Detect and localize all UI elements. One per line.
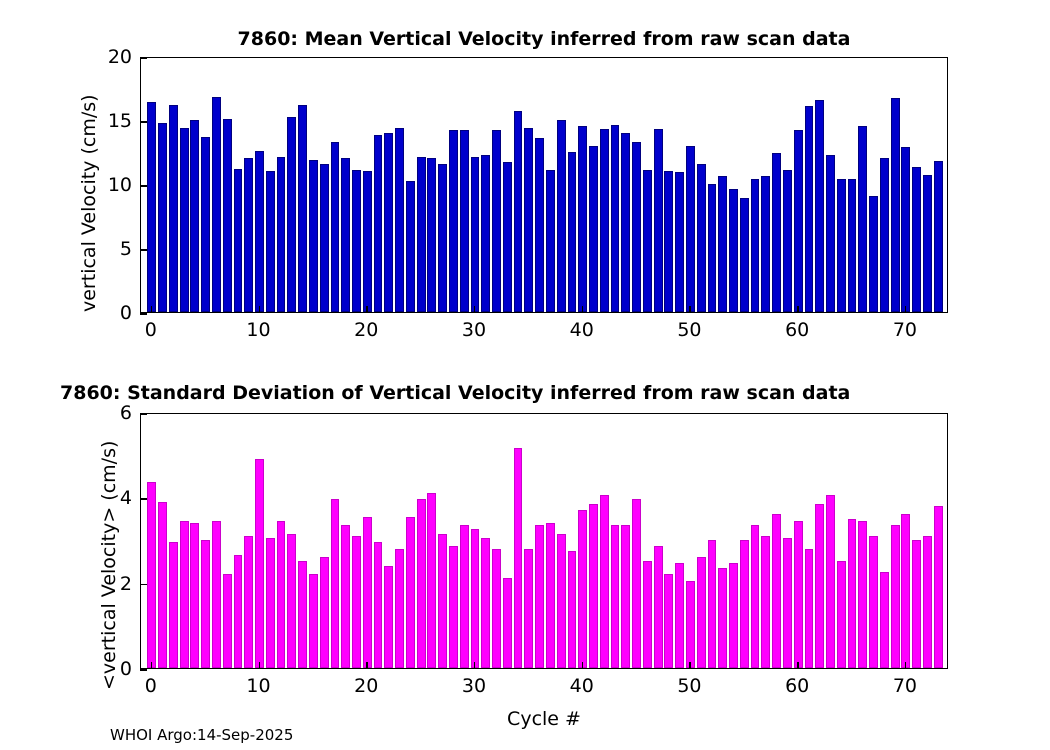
x-tick-label: 0 xyxy=(145,319,157,341)
bar xyxy=(234,169,243,312)
bar xyxy=(664,574,673,668)
bar xyxy=(697,164,706,312)
bar xyxy=(158,123,167,312)
plot-area-mean xyxy=(140,57,948,313)
x-tick-label: 20 xyxy=(354,675,378,697)
bar xyxy=(180,128,189,312)
y-tick-label: 2 xyxy=(88,573,132,595)
y-tick-label: 6 xyxy=(88,402,132,424)
bar xyxy=(611,525,620,668)
bar xyxy=(772,514,781,668)
bar xyxy=(761,176,770,312)
bar xyxy=(320,557,329,668)
bar xyxy=(912,167,921,312)
x-tick-label: 60 xyxy=(785,319,809,341)
bar xyxy=(632,499,641,668)
bar xyxy=(341,525,350,668)
y-tick xyxy=(140,498,147,500)
x-tick xyxy=(366,662,368,669)
bar xyxy=(449,130,458,312)
bar xyxy=(621,133,630,312)
bar xyxy=(557,120,566,312)
bar xyxy=(352,170,361,312)
y-tick xyxy=(140,57,147,59)
x-tick-label: 10 xyxy=(246,675,270,697)
bar xyxy=(848,179,857,312)
bar xyxy=(600,495,609,668)
bar xyxy=(654,129,663,312)
bar xyxy=(535,138,544,312)
bar xyxy=(729,563,738,668)
bar xyxy=(837,179,846,312)
bar xyxy=(427,493,436,668)
bar xyxy=(600,129,609,312)
y-tick-label: 4 xyxy=(88,487,132,509)
x-tick-label: 70 xyxy=(893,675,917,697)
bar xyxy=(503,578,512,668)
bar xyxy=(891,98,900,312)
bar xyxy=(869,536,878,668)
bar xyxy=(514,448,523,668)
bar xyxy=(901,514,910,668)
x-tick-label: 60 xyxy=(785,675,809,697)
y-tick-label: 15 xyxy=(88,110,132,132)
y-axis-label-std: <vertical Velocity> (cm/s) xyxy=(98,441,120,690)
bar xyxy=(395,549,404,668)
bar xyxy=(654,546,663,668)
x-tick-label: 30 xyxy=(462,319,486,341)
bar-series-std xyxy=(141,414,947,668)
bar xyxy=(244,158,253,312)
y-tick-label: 10 xyxy=(88,174,132,196)
bar xyxy=(492,549,501,668)
x-tick xyxy=(151,306,153,313)
x-tick xyxy=(689,306,691,313)
bar xyxy=(740,198,749,312)
bar xyxy=(643,170,652,312)
bar xyxy=(891,525,900,668)
bar xyxy=(621,525,630,668)
bar xyxy=(363,171,372,312)
x-tick-label: 50 xyxy=(677,675,701,697)
bar xyxy=(589,504,598,668)
y-tick-label: 20 xyxy=(88,46,132,68)
x-tick-label: 10 xyxy=(246,319,270,341)
bar xyxy=(783,538,792,668)
footnote-credit: WHOI Argo:14-Sep-2025 xyxy=(110,726,293,744)
bar xyxy=(309,574,318,668)
bar xyxy=(331,142,340,312)
bar xyxy=(492,130,501,312)
bar xyxy=(923,175,932,312)
bar xyxy=(395,128,404,312)
bar xyxy=(611,125,620,312)
bar xyxy=(438,534,447,668)
bar xyxy=(460,130,469,312)
bar xyxy=(546,170,555,312)
x-tick xyxy=(905,306,907,313)
bar xyxy=(352,536,361,668)
bar xyxy=(535,525,544,668)
bar xyxy=(837,561,846,668)
bar xyxy=(212,97,221,312)
bar xyxy=(417,157,426,312)
bar xyxy=(331,499,340,668)
bar xyxy=(190,523,199,668)
bar xyxy=(794,521,803,668)
bar xyxy=(406,181,415,312)
plot-area-std xyxy=(140,413,948,669)
bar xyxy=(578,510,587,668)
bar xyxy=(934,506,943,668)
bar xyxy=(912,540,921,668)
bar xyxy=(201,540,210,668)
bar xyxy=(761,536,770,668)
bar xyxy=(568,152,577,312)
bar xyxy=(309,160,318,312)
bar xyxy=(223,119,232,312)
bar xyxy=(805,106,814,312)
bar xyxy=(277,157,286,312)
y-tick xyxy=(140,249,147,251)
bar xyxy=(524,128,533,312)
bar xyxy=(471,529,480,668)
bar xyxy=(826,155,835,312)
bar xyxy=(384,133,393,312)
bar xyxy=(266,171,275,312)
x-tick-label: 30 xyxy=(462,675,486,697)
bar xyxy=(298,105,307,312)
bar xyxy=(158,502,167,668)
x-tick xyxy=(474,662,476,669)
bar xyxy=(438,164,447,312)
bar xyxy=(147,482,156,668)
bar-series-mean xyxy=(141,58,947,312)
bar xyxy=(201,137,210,312)
bar xyxy=(287,117,296,312)
y-tick xyxy=(140,313,147,315)
bar xyxy=(503,162,512,312)
bar xyxy=(255,459,264,668)
bar xyxy=(869,196,878,312)
figure-canvas: 7860: Mean Vertical Velocity inferred fr… xyxy=(0,0,1050,750)
bar xyxy=(815,100,824,312)
bar xyxy=(266,538,275,668)
bar xyxy=(751,179,760,312)
bar xyxy=(524,549,533,668)
bar xyxy=(417,499,426,668)
y-tick-label: 0 xyxy=(88,658,132,680)
y-tick xyxy=(140,584,147,586)
bar xyxy=(643,561,652,668)
x-axis-label-std: Cycle # xyxy=(507,708,581,730)
bar xyxy=(858,521,867,668)
bar xyxy=(805,549,814,668)
bar xyxy=(858,126,867,312)
bar xyxy=(718,568,727,668)
bar xyxy=(471,157,480,312)
bar xyxy=(783,170,792,312)
bar xyxy=(190,120,199,312)
bar xyxy=(880,572,889,668)
y-tick xyxy=(140,413,147,415)
bar xyxy=(557,534,566,668)
bar xyxy=(374,542,383,668)
bar xyxy=(751,525,760,668)
x-tick xyxy=(689,662,691,669)
bar xyxy=(514,111,523,312)
bar xyxy=(341,158,350,312)
bar xyxy=(546,523,555,668)
bar xyxy=(729,189,738,312)
bar xyxy=(460,525,469,668)
bar xyxy=(675,172,684,312)
bar xyxy=(708,184,717,312)
bar xyxy=(826,495,835,668)
bar xyxy=(255,151,264,312)
bar xyxy=(675,563,684,668)
panel-mean-vertical-velocity: 7860: Mean Vertical Velocity inferred fr… xyxy=(0,0,1050,360)
bar xyxy=(718,176,727,312)
bar xyxy=(708,540,717,668)
y-tick xyxy=(140,121,147,123)
chart-title-mean: 7860: Mean Vertical Velocity inferred fr… xyxy=(140,28,948,50)
bar xyxy=(578,126,587,312)
bar xyxy=(686,146,695,312)
bar xyxy=(901,147,910,312)
bar xyxy=(277,521,286,668)
bar xyxy=(180,521,189,668)
bar xyxy=(815,504,824,668)
bar xyxy=(169,105,178,312)
bar xyxy=(664,171,673,312)
y-tick xyxy=(140,669,147,671)
x-tick-label: 50 xyxy=(677,319,701,341)
x-tick xyxy=(582,662,584,669)
panel-std-vertical-velocity: 7860: Standard Deviation of Vertical Vel… xyxy=(0,360,1050,750)
bar xyxy=(589,146,598,312)
x-tick-label: 70 xyxy=(893,319,917,341)
bar xyxy=(449,546,458,668)
bar xyxy=(234,555,243,668)
bar xyxy=(427,158,436,312)
bar xyxy=(686,581,695,668)
bar xyxy=(406,517,415,668)
x-tick-label: 40 xyxy=(570,675,594,697)
bar xyxy=(363,517,372,668)
bar xyxy=(632,142,641,312)
bar xyxy=(320,164,329,312)
x-tick-label: 20 xyxy=(354,319,378,341)
bar xyxy=(374,135,383,312)
bar xyxy=(384,566,393,668)
x-tick xyxy=(797,306,799,313)
y-tick-label: 0 xyxy=(88,302,132,324)
x-tick xyxy=(582,306,584,313)
bar xyxy=(481,538,490,668)
x-tick xyxy=(474,306,476,313)
bar xyxy=(697,557,706,668)
x-tick-label: 0 xyxy=(145,675,157,697)
bar xyxy=(934,161,943,312)
bar xyxy=(772,153,781,312)
bar xyxy=(848,519,857,668)
bar xyxy=(169,542,178,668)
bar xyxy=(923,536,932,668)
bar xyxy=(568,551,577,668)
bar xyxy=(223,574,232,668)
chart-title-std: 7860: Standard Deviation of Vertical Vel… xyxy=(60,382,1050,404)
x-tick xyxy=(259,306,261,313)
bar xyxy=(244,536,253,668)
y-tick xyxy=(140,185,147,187)
bar xyxy=(298,561,307,668)
bar xyxy=(794,130,803,312)
y-tick-label: 5 xyxy=(88,238,132,260)
bar xyxy=(212,521,221,668)
bar xyxy=(740,540,749,668)
bar xyxy=(287,534,296,668)
bar xyxy=(147,102,156,312)
x-tick xyxy=(797,662,799,669)
x-tick-label: 40 xyxy=(570,319,594,341)
x-tick xyxy=(366,306,368,313)
bar xyxy=(880,158,889,312)
x-tick xyxy=(905,662,907,669)
x-tick xyxy=(259,662,261,669)
x-tick xyxy=(151,662,153,669)
bar xyxy=(481,155,490,312)
